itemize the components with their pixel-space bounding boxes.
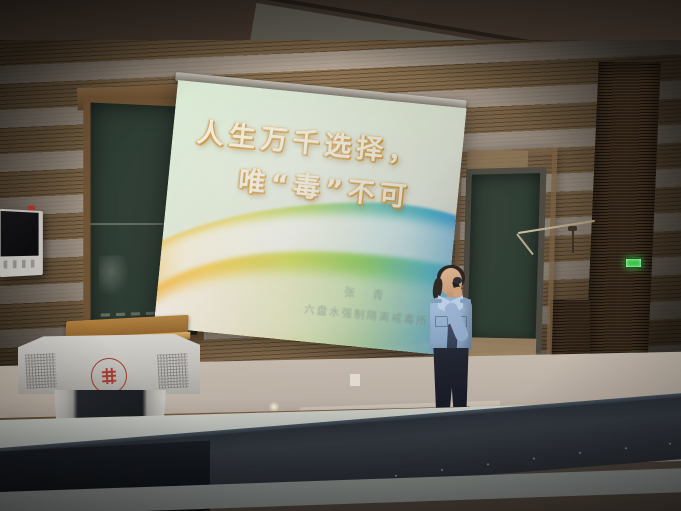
slide-title-line-1: 人生万千选择，	[195, 110, 422, 171]
hanging-microphone-icon	[568, 226, 577, 231]
presenter-shirt-pocket-left	[435, 316, 448, 327]
floor-object	[350, 374, 360, 386]
monitor-screen	[1, 211, 39, 257]
presenter-epaulette-left	[431, 299, 442, 303]
hanging-microphone-cable	[572, 229, 574, 253]
wall-monitor[interactable]	[0, 209, 43, 277]
chalk-smudge	[99, 255, 129, 296]
presenter-epaulette-right	[460, 299, 471, 303]
monitor-button-row[interactable]	[3, 260, 37, 269]
crest-glyph	[102, 368, 117, 385]
monitor-power-led-icon	[27, 205, 35, 210]
microphone-head-icon	[453, 277, 462, 284]
lectern-speaker-grille-left	[25, 353, 57, 389]
exit-sign-icon-upper	[625, 258, 642, 268]
lectern-speaker-grille-right	[157, 353, 189, 389]
auditorium-photo: 人生万千选择， 唯“毒”不可 张 青 六盘水强制隔离戒毒所	[0, 0, 681, 511]
